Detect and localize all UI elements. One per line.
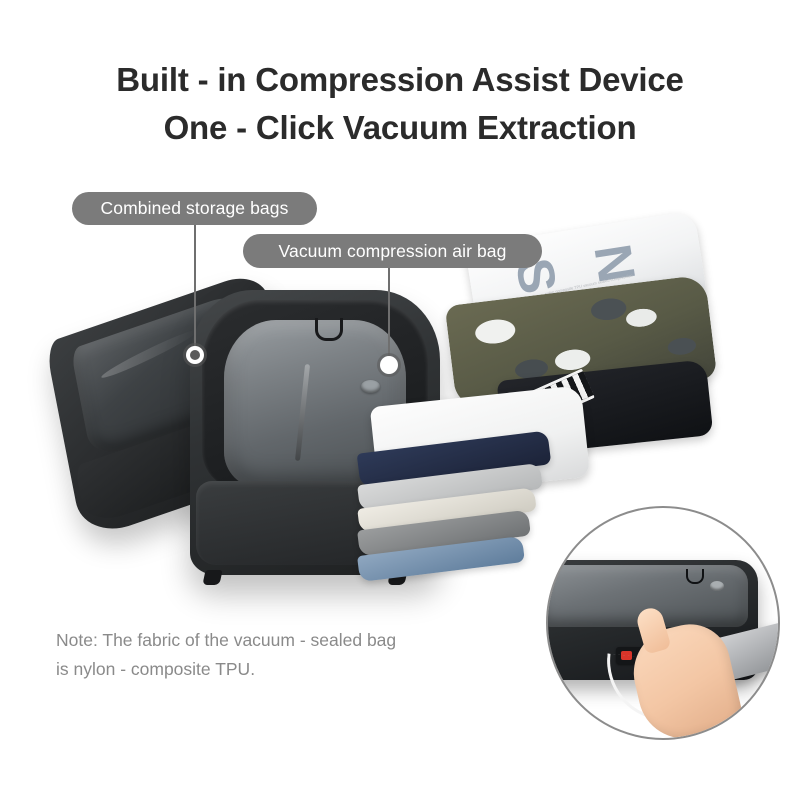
callout-marker-1: [186, 346, 204, 364]
footnote-line-2: is nylon - composite TPU.: [56, 655, 476, 684]
footnote: Note: The fabric of the vacuum - sealed …: [56, 626, 476, 684]
page-title-line-1: Built - in Compression Assist Device: [0, 58, 800, 102]
zipper-pull-icon: [315, 318, 343, 341]
callout-vacuum-compression-air-bag: Vacuum compression air bag: [243, 234, 542, 268]
page-title-line-2: One - Click Vacuum Extraction: [0, 106, 800, 150]
callout-leader-line-2: [388, 268, 390, 362]
callout-leader-line-1: [194, 225, 196, 353]
callout-combined-storage-bags: Combined storage bags: [72, 192, 317, 225]
suitcase-foot-left: [202, 570, 222, 585]
product-infographic: Built - in Compression Assist Device One…: [0, 0, 800, 800]
footnote-line-1: Note: The fabric of the vacuum - sealed …: [56, 626, 476, 655]
vacuum-button-inset: [546, 506, 780, 740]
inset-air-valve-icon: [710, 581, 724, 591]
air-valve-icon: [361, 380, 380, 393]
bag-seam: [295, 364, 310, 461]
callout-marker-2: [380, 356, 398, 374]
inset-zipper-pull-icon: [686, 569, 704, 584]
